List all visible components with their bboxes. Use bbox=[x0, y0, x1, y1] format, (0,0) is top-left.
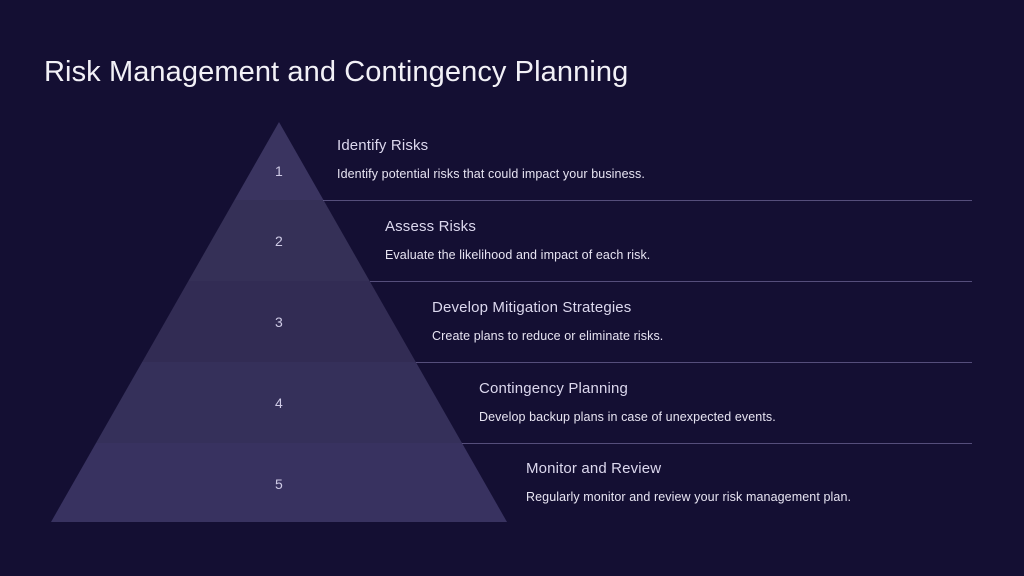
level-heading-5: Monitor and Review bbox=[526, 460, 851, 477]
divider-4 bbox=[462, 443, 972, 444]
level-description-5: Regularly monitor and review your risk m… bbox=[526, 490, 851, 504]
level-description-2: Evaluate the likelihood and impact of ea… bbox=[385, 248, 650, 262]
pyramid-band-1[interactable] bbox=[235, 122, 324, 200]
level-heading-1: Identify Risks bbox=[337, 137, 645, 154]
level-number-2: 2 bbox=[259, 233, 299, 249]
divider-1 bbox=[323, 200, 972, 201]
level-text-4: Contingency Planning Develop backup plan… bbox=[479, 380, 776, 424]
level-text-2: Assess Risks Evaluate the likelihood and… bbox=[385, 218, 650, 262]
pyramid-diagram bbox=[0, 0, 1024, 576]
divider-2 bbox=[370, 281, 972, 282]
level-heading-4: Contingency Planning bbox=[479, 380, 776, 397]
level-description-4: Develop backup plans in case of unexpect… bbox=[479, 410, 776, 424]
level-description-1: Identify potential risks that could impa… bbox=[337, 167, 645, 181]
level-number-3: 3 bbox=[259, 314, 299, 330]
level-number-1: 1 bbox=[259, 163, 299, 179]
level-number-5: 5 bbox=[259, 476, 299, 492]
level-text-5: Monitor and Review Regularly monitor and… bbox=[526, 460, 851, 504]
level-text-3: Develop Mitigation Strategies Create pla… bbox=[432, 299, 663, 343]
level-number-4: 4 bbox=[259, 395, 299, 411]
divider-3 bbox=[416, 362, 972, 363]
level-heading-2: Assess Risks bbox=[385, 218, 650, 235]
level-description-3: Create plans to reduce or eliminate risk… bbox=[432, 329, 663, 343]
level-text-1: Identify Risks Identify potential risks … bbox=[337, 137, 645, 181]
slide-canvas: Risk Management and Contingency Planning… bbox=[0, 0, 1024, 576]
level-heading-3: Develop Mitigation Strategies bbox=[432, 299, 663, 316]
